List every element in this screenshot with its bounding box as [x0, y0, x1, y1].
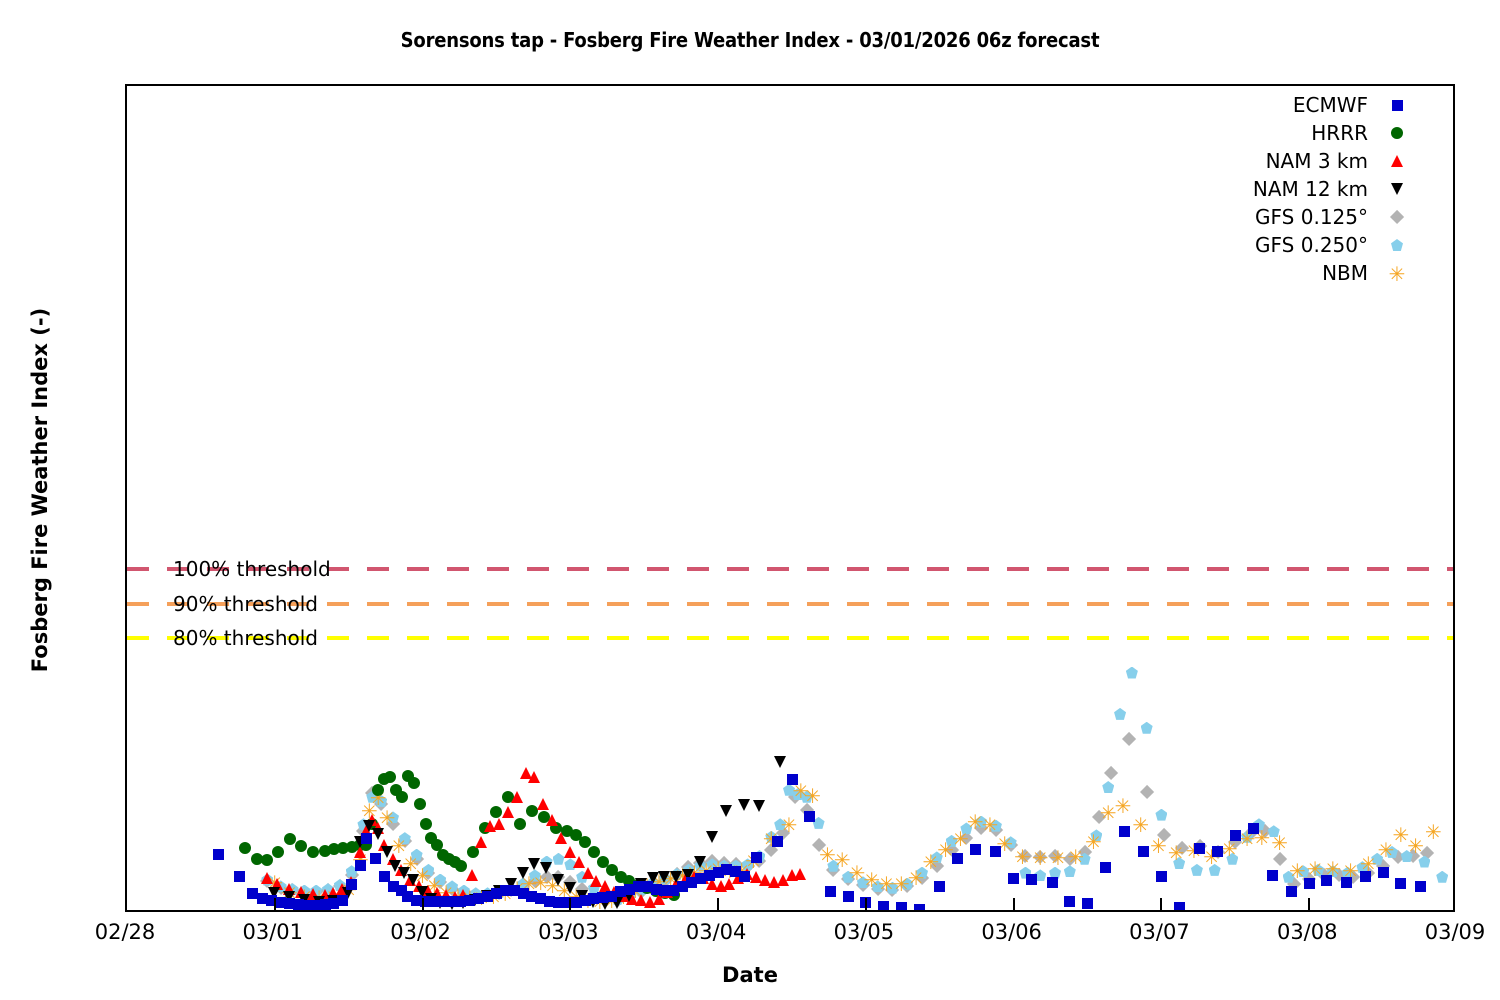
- x-tick-label: 03/06: [981, 920, 1042, 944]
- marker-glyph: [1390, 210, 1404, 224]
- x-tick-mark: [1160, 898, 1162, 910]
- legend-marker-triangle-up-icon: [1384, 151, 1410, 171]
- data-point: [1248, 823, 1259, 834]
- x-tick-label: 03/08: [1277, 920, 1338, 944]
- marker-glyph: ✳: [1389, 264, 1406, 281]
- marker-glyph: [1392, 100, 1403, 111]
- legend-marker-pentagon-icon: [1384, 235, 1410, 255]
- data-point: [1119, 826, 1130, 837]
- data-point: [337, 895, 348, 906]
- data-point: [234, 871, 245, 882]
- data-point: [247, 888, 258, 899]
- data-point: [370, 853, 381, 864]
- x-tick-mark: [865, 898, 867, 910]
- data-point: [1212, 846, 1223, 857]
- legend-item-gfs-0-125[interactable]: GFS 0.125°: [1150, 204, 1410, 230]
- x-tick-label: 02/28: [95, 920, 156, 944]
- data-point: [914, 904, 925, 910]
- x-tick-mark: [569, 898, 571, 910]
- marker-glyph: [1391, 127, 1403, 139]
- x-tick-label: 03/01: [243, 920, 304, 944]
- marker-glyph: [1391, 155, 1403, 167]
- x-tick-label: 03/02: [390, 920, 451, 944]
- legend-marker-asterisk-icon: ✳: [1384, 263, 1410, 283]
- data-point: [1026, 874, 1037, 885]
- data-point: [361, 833, 372, 844]
- legend-label: GFS 0.125°: [1255, 205, 1368, 229]
- legend-item-nam-12-km[interactable]: NAM 12 km: [1150, 176, 1410, 202]
- x-tick-label: 03/04: [686, 920, 747, 944]
- data-point: [1156, 871, 1167, 882]
- x-tick-label: 03/05: [834, 920, 895, 944]
- data-point: [1008, 873, 1019, 884]
- data-point: [772, 836, 783, 847]
- legend-item-hrrr[interactable]: HRRR: [1150, 120, 1410, 146]
- legend-marker-diamond-icon: [1384, 207, 1410, 227]
- data-point: [843, 891, 854, 902]
- legend-item-ecmwf[interactable]: ECMWF: [1150, 92, 1410, 118]
- legend-label: NAM 12 km: [1253, 177, 1368, 201]
- data-point: [1360, 871, 1371, 882]
- data-point: [952, 853, 963, 864]
- data-point: [1415, 881, 1426, 892]
- marker-glyph: [1391, 239, 1403, 251]
- data-point: [896, 902, 907, 910]
- data-point: [1321, 875, 1332, 886]
- data-point: [934, 881, 945, 892]
- data-point: [346, 879, 357, 890]
- legend-marker-circle-icon: [1384, 123, 1410, 143]
- data-point: [1341, 877, 1352, 888]
- marker-glyph: [1391, 183, 1403, 195]
- x-tick-mark: [717, 898, 719, 910]
- fosberg-fire-weather-index-chart: Sorensons tap - Fosberg Fire Weather Ind…: [0, 0, 1500, 1000]
- data-point: [804, 811, 815, 822]
- data-point: [1267, 870, 1278, 881]
- legend-item-gfs-0-250[interactable]: GFS 0.250°: [1150, 232, 1410, 258]
- data-point: [213, 849, 224, 860]
- data-point: [1286, 886, 1297, 897]
- data-point: [970, 844, 981, 855]
- data-point: [787, 774, 798, 785]
- x-tick-mark: [422, 898, 424, 910]
- data-point: [1064, 896, 1075, 907]
- x-tick-mark: [1308, 898, 1310, 910]
- legend-label: ECMWF: [1293, 93, 1368, 117]
- legend-item-nbm[interactable]: NBM✳: [1150, 260, 1410, 286]
- legend-marker-triangle-down-icon: [1384, 179, 1410, 199]
- legend-marker-square-icon: [1384, 95, 1410, 115]
- data-point: [878, 901, 889, 910]
- x-tick-mark: [1013, 898, 1015, 910]
- data-point: [739, 871, 750, 882]
- data-point: [1395, 878, 1406, 889]
- legend-item-nam-3-km[interactable]: NAM 3 km: [1150, 148, 1410, 174]
- data-point: [751, 852, 762, 863]
- x-tick-label: 03/03: [538, 920, 599, 944]
- legend-label: NBM: [1322, 261, 1368, 285]
- data-point: [1047, 877, 1058, 888]
- x-tick-label: 03/07: [1129, 920, 1190, 944]
- data-point: [1378, 867, 1389, 878]
- legend-label: HRRR: [1311, 121, 1368, 145]
- data-point: [1174, 902, 1185, 910]
- data-point: [1100, 862, 1111, 873]
- data-point: [1304, 878, 1315, 889]
- data-point: [1138, 846, 1149, 857]
- x-tick-mark: [274, 898, 276, 910]
- data-point: [379, 871, 390, 882]
- y-axis-title: Fosberg Fire Weather Index (-): [28, 90, 52, 890]
- chart-title: Sorensons tap - Fosberg Fire Weather Ind…: [0, 28, 1500, 52]
- data-point: [990, 846, 1001, 857]
- x-tick-label: 03/09: [1425, 920, 1486, 944]
- data-point: [1194, 843, 1205, 854]
- legend-label: NAM 3 km: [1266, 149, 1368, 173]
- legend: ECMWFHRRRNAM 3 kmNAM 12 kmGFS 0.125°GFS …: [1150, 92, 1410, 288]
- data-point: [1082, 898, 1093, 909]
- x-axis-title: Date: [0, 963, 1500, 987]
- data-point: [1230, 830, 1241, 841]
- data-point: [825, 886, 836, 897]
- legend-label: GFS 0.250°: [1255, 233, 1368, 257]
- data-point: [355, 860, 366, 871]
